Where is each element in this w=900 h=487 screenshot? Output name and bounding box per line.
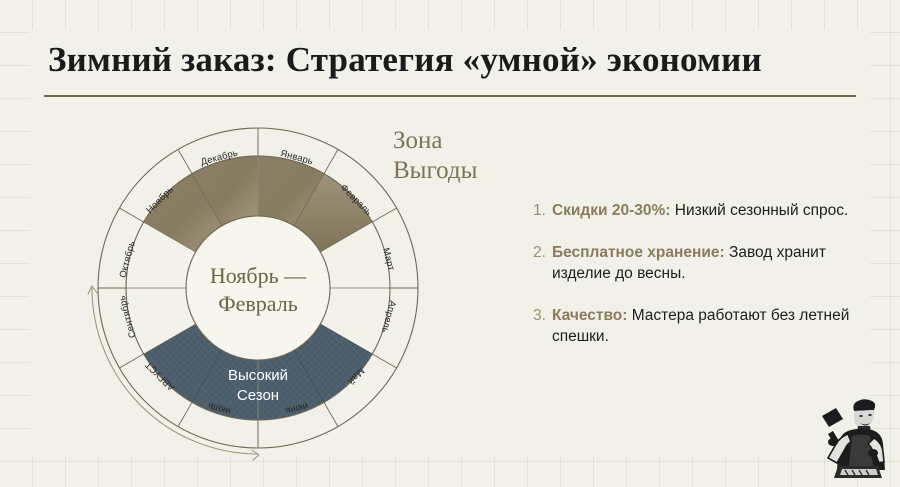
- benefit-zone-caption-line1: Зона: [393, 126, 477, 156]
- craftsman-hammer-icon: [812, 390, 890, 480]
- benefit-zone-caption-line2: Выгоды: [393, 156, 477, 186]
- benefit-item-1: 1. Скидки 20-30%: Низкий сезонный спрос.: [533, 200, 873, 221]
- page-title: Зимний заказ: Стратегия «умной» экономии: [48, 40, 858, 80]
- benefits-list: 1. Скидки 20-30%: Низкий сезонный спрос.…: [533, 200, 873, 368]
- benefit-keyword-3: Качество:: [552, 307, 627, 324]
- high-season-label-line1: Высокий: [228, 367, 288, 384]
- wheel-center-disc: [186, 216, 330, 360]
- benefit-body-1: Скидки 20-30%: Низкий сезонный спрос.: [552, 200, 848, 221]
- benefit-keyword-2: Бесплатное хранение:: [552, 244, 725, 261]
- benefit-text-1: Низкий сезонный спрос.: [670, 202, 848, 219]
- benefit-number-2: 2.: [533, 242, 546, 263]
- wheel-center-line2: Февраль: [218, 291, 298, 316]
- slide-root: Зимний заказ: Стратегия «умной» экономии: [0, 0, 900, 487]
- benefit-item-3: 3. Качество: Мастера работают без летней…: [533, 305, 873, 347]
- title-divider: [44, 95, 856, 97]
- seasonal-wheel-svg: Январь Февраль Март Апрель Май июнь июль…: [78, 108, 438, 468]
- benefit-number-3: 3.: [533, 305, 546, 326]
- benefit-number-1: 1.: [533, 200, 546, 221]
- benefit-body-2: Бесплатное хранение: Завод хранит издели…: [552, 242, 873, 284]
- benefit-zone-caption: Зона Выгоды: [393, 126, 477, 186]
- wheel-center-line1: Ноябрь —: [210, 263, 307, 288]
- benefit-item-2: 2. Бесплатное хранение: Завод хранит изд…: [533, 242, 873, 284]
- benefit-keyword-1: Скидки 20-30%:: [552, 202, 671, 219]
- seasonal-wheel: Январь Февраль Март Апрель Май июнь июль…: [78, 108, 438, 468]
- high-season-label-line2: Сезон: [237, 387, 279, 404]
- benefit-body-3: Качество: Мастера работают без летней сп…: [552, 305, 873, 347]
